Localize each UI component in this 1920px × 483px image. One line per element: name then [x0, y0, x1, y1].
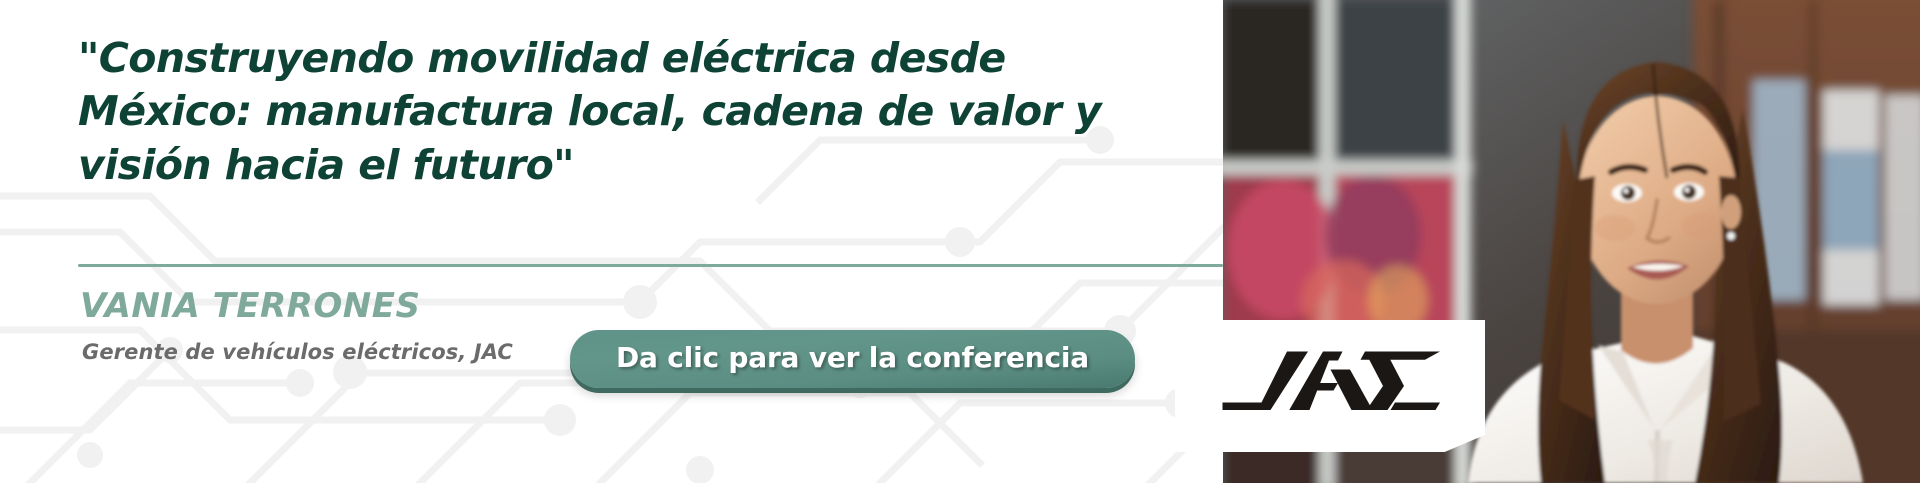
- divider-rule: [78, 264, 1223, 267]
- page-title: "Construyendo movilidad eléctrica desde …: [78, 32, 1138, 192]
- jac-logo-badge: [1175, 320, 1485, 452]
- speaker-name: VANIA TERRONES: [80, 288, 420, 325]
- watch-conference-button[interactable]: Da clic para ver la conferencia: [570, 330, 1135, 388]
- left-content-panel: "Construyendo movilidad eléctrica desde …: [0, 0, 1250, 483]
- jac-logo-icon: [1218, 347, 1443, 425]
- conference-banner: "Construyendo movilidad eléctrica desde …: [0, 0, 1920, 483]
- speaker-role: Gerente de vehículos eléctricos, JAC: [82, 340, 513, 364]
